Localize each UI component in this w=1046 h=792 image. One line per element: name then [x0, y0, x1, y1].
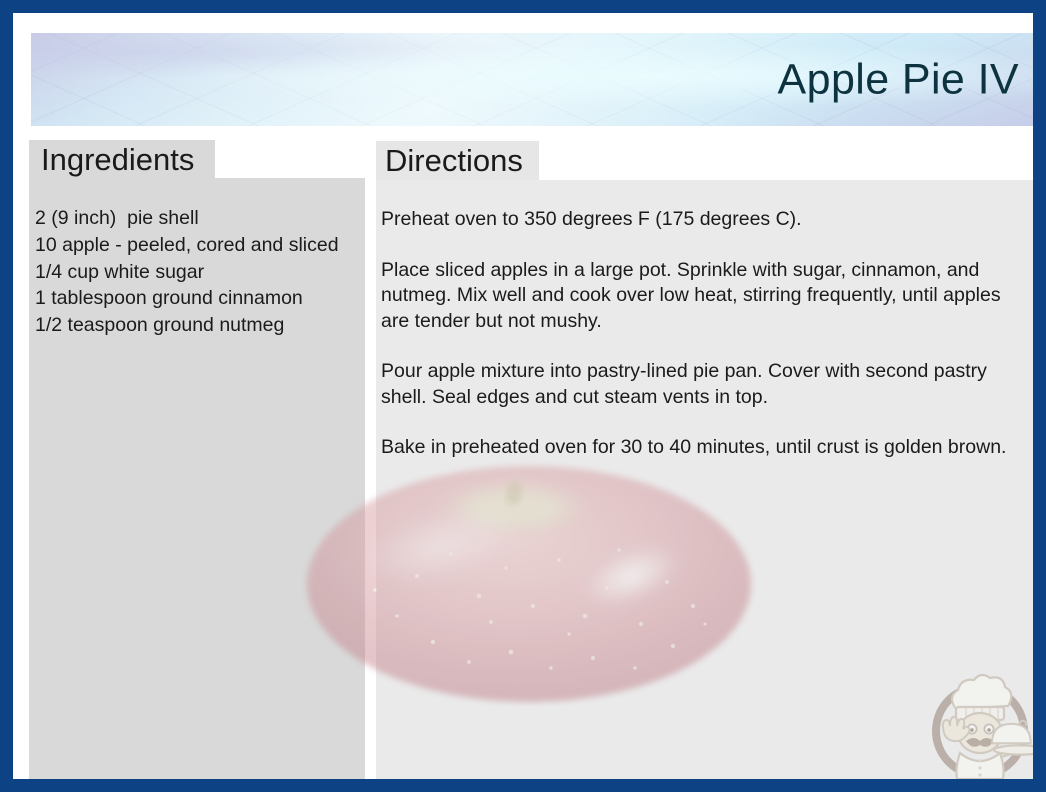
list-item: 2 (9 inch) pie shell	[35, 205, 355, 232]
ingredients-heading-tab: Ingredients	[29, 140, 215, 179]
list-item: 10 apple - peeled, cored and sliced	[35, 232, 355, 259]
list-item: Bake in preheated oven for 30 to 40 minu…	[381, 435, 1013, 461]
list-item: 1/2 teaspoon ground nutmeg	[35, 312, 355, 339]
list-item: Pour apple mixture into pastry-lined pie…	[381, 359, 1013, 410]
list-item: 1 tablespoon ground cinnamon	[35, 285, 355, 312]
page-title: Apple Pie IV	[778, 55, 1019, 104]
list-item: Preheat oven to 350 degrees F (175 degre…	[381, 207, 1013, 233]
list-item: Place sliced apples in a large pot. Spri…	[381, 258, 1013, 335]
directions-heading-label: Directions	[385, 145, 523, 176]
directions-heading-tab: Directions	[376, 141, 539, 180]
ingredients-heading-label: Ingredients	[41, 144, 194, 175]
list-item: 1/4 cup white sugar	[35, 259, 355, 286]
ingredients-list: 2 (9 inch) pie shell 10 apple - peeled, …	[35, 205, 355, 339]
directions-steps: Preheat oven to 350 degrees F (175 degre…	[381, 207, 1013, 461]
recipe-slide: Apple Pie IV Ingredients Directions 2 (9…	[0, 0, 1046, 792]
title-banner: Apple Pie IV	[31, 33, 1041, 126]
